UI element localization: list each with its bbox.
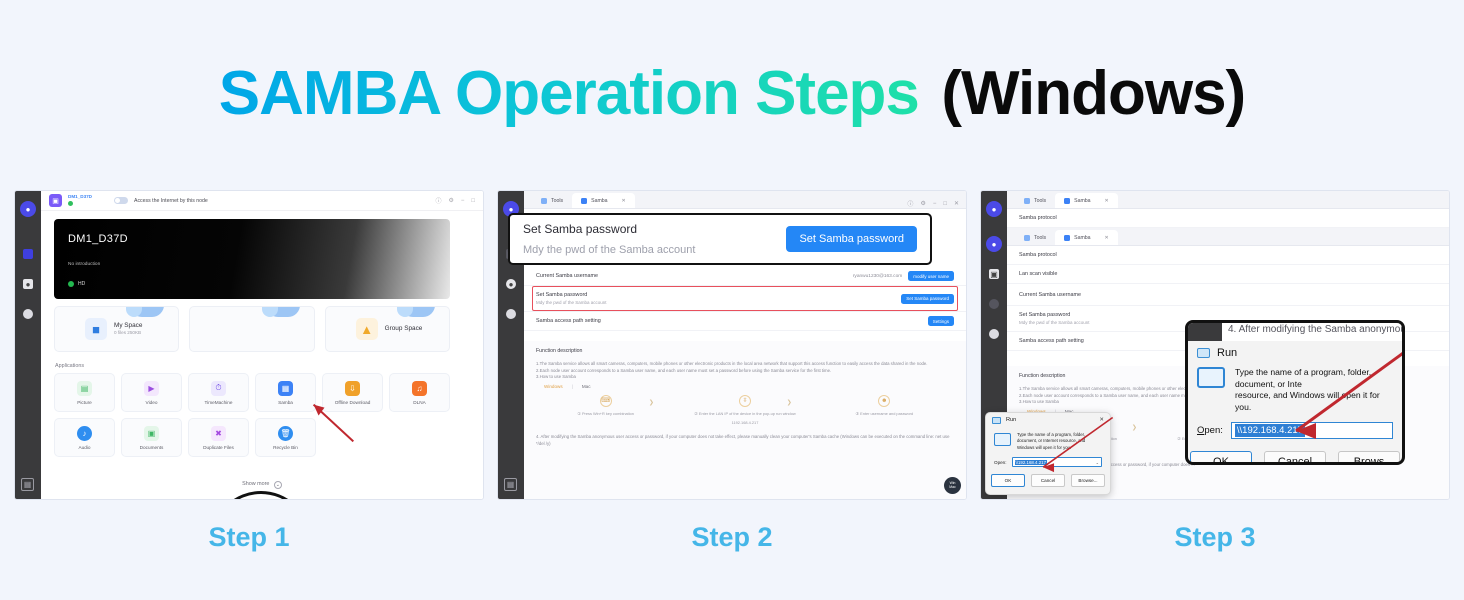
callout-subtitle: Mdy the pwd of the Samba account bbox=[523, 244, 695, 256]
chat-icon[interactable]: ● bbox=[23, 279, 33, 289]
download-icon: ⇩ bbox=[345, 381, 360, 396]
row-value: ryanwu1230@163.com bbox=[853, 274, 902, 279]
row-title: Current Samba username bbox=[1019, 292, 1081, 298]
space-meta: 0 files 250KB bbox=[114, 330, 142, 336]
usage-step-text: ③ Enter username and password bbox=[856, 411, 914, 416]
avatar[interactable]: ● bbox=[986, 201, 1002, 217]
trash-icon: 🗑 bbox=[278, 426, 293, 441]
applications-label: Applications bbox=[55, 363, 84, 369]
step2-screenshot-panel: ● ▣ ● ▦ Tools Samba ✕ ⓘ ⚙ − bbox=[497, 190, 967, 500]
chat-icon[interactable] bbox=[989, 299, 999, 309]
run-window-icon bbox=[1197, 348, 1210, 358]
tab-tools[interactable]: Tools bbox=[1015, 230, 1055, 245]
run-open-input[interactable]: \\192.168.4.217 ⌄ bbox=[1012, 457, 1102, 467]
app-label: Video bbox=[146, 400, 158, 405]
step-3-label: Step 3 bbox=[980, 522, 1450, 553]
badge-mac-label: Mac bbox=[949, 486, 955, 490]
window-controls: ⓘ ⚙ − □ bbox=[435, 196, 475, 205]
tab-samba[interactable]: Samba ✕ bbox=[1055, 193, 1118, 208]
run-description-line1: Type the name of a program, folder, docu… bbox=[1235, 367, 1393, 390]
function-description-section: Function description 1.The Samba service… bbox=[524, 341, 966, 499]
usage-step-2: ⇳ ② Enter the LAN IP of the device in th… bbox=[675, 395, 814, 426]
maximize-icon[interactable]: □ bbox=[471, 198, 475, 204]
step-2-label: Step 2 bbox=[497, 522, 967, 553]
tab-samba[interactable]: Samba ✕ bbox=[1055, 230, 1118, 245]
folder-cloud-icon bbox=[401, 306, 435, 317]
help-icon[interactable]: ⓘ bbox=[435, 196, 441, 205]
dlna-icon: ♫ bbox=[412, 381, 427, 396]
cloud-icon[interactable] bbox=[506, 309, 516, 319]
app-label: Picture bbox=[77, 400, 92, 405]
usage-step-text: ② Enter the LAN IP of the device in the … bbox=[694, 411, 795, 416]
device-banner: DM1_D37D No introduction HD bbox=[54, 219, 450, 299]
samba-icon: ▦ bbox=[278, 381, 293, 396]
chat-icon[interactable]: ● bbox=[506, 279, 516, 289]
space-card-group-space[interactable]: ▲ Group Space bbox=[325, 306, 450, 352]
modify-user-name-button[interactable]: modify user name bbox=[908, 271, 954, 281]
maximize-icon[interactable]: □ bbox=[943, 201, 947, 207]
step-1-label: Step 1 bbox=[14, 522, 484, 553]
usage-step-ip: 1192.168.4.217 bbox=[732, 420, 759, 425]
files-icon[interactable]: ▣ bbox=[989, 269, 999, 279]
run-open-label: Open: bbox=[1197, 425, 1223, 436]
app-tile-picture[interactable]: ▤ Picture bbox=[54, 373, 115, 412]
run-dialog-buttons: OK Cancel Brows bbox=[1188, 439, 1402, 465]
close-icon[interactable]: ✕ bbox=[1105, 198, 1109, 204]
row-title: Samba access path setting bbox=[536, 318, 601, 324]
samba-tab-icon bbox=[1064, 198, 1070, 204]
music-icon: ♪ bbox=[77, 426, 92, 441]
app-label: Duplicate Files bbox=[203, 445, 234, 450]
space-cards: ■ My Space 0 files 250KB ▲ Group Space bbox=[54, 306, 450, 352]
row-title: Samba protocol bbox=[1019, 252, 1057, 258]
row-title: Samba protocol bbox=[1019, 215, 1057, 221]
tab-tools[interactable]: Tools bbox=[532, 193, 572, 208]
triangle-icon: ▲ bbox=[356, 318, 378, 340]
function-description-item: 3.How to use Samba bbox=[536, 374, 954, 381]
browse-button[interactable]: Brows bbox=[1338, 451, 1400, 465]
minimize-icon[interactable]: − bbox=[461, 198, 465, 204]
close-icon[interactable]: ✕ bbox=[1105, 235, 1109, 241]
space-card-middle[interactable] bbox=[189, 306, 314, 352]
chevron-right-icon: ❯ bbox=[649, 399, 654, 406]
usage-steps: ❯ ❯ ⌨ ① Press Win+R key combination ⇳ ② … bbox=[536, 395, 954, 426]
close-icon[interactable]: ✕ bbox=[1099, 417, 1104, 423]
function-description-note: 4. After modifying the Samba anonymous u… bbox=[536, 434, 954, 447]
function-description-item: 2.Each node user account corresponds to … bbox=[536, 368, 954, 375]
internet-node-toggle[interactable] bbox=[114, 197, 128, 204]
run-dialog-small: Run ✕ Type the name of a program, folder… bbox=[985, 412, 1111, 495]
run-program-icon bbox=[1197, 367, 1225, 388]
row-samba-protocol: Samba protocol bbox=[1007, 246, 1449, 265]
app-sidebar-rail: ● ● ▦ bbox=[15, 191, 41, 499]
keyboard-icon: ⌨ bbox=[600, 395, 612, 407]
ghost-note-text: 4. After modifying the Samba anonymous bbox=[1228, 324, 1405, 335]
run-open-field-row: Open: \\192.168.4.217 ⌄ bbox=[986, 451, 1110, 467]
chevron-right-icon: ❯ bbox=[1132, 424, 1137, 431]
row-title: Set Samba password bbox=[536, 292, 607, 298]
set-samba-password-callout: Set Samba password Mdy the pwd of the Sa… bbox=[508, 213, 932, 265]
step1-screenshot-panel: ● ● ▦ ▣ DM1_D37D Access the Internet by … bbox=[14, 190, 484, 500]
cloud-icon[interactable] bbox=[989, 329, 999, 339]
browser-tabbar-upper: Tools Samba ✕ bbox=[1007, 191, 1449, 209]
settings-rows: Current Samba username ryanwu1230@163.co… bbox=[524, 267, 966, 331]
row-title: Set Samba password bbox=[1019, 312, 1090, 318]
tab-label: Tools bbox=[1034, 235, 1046, 241]
app-tile-audio[interactable]: ♪ Audio bbox=[54, 418, 115, 457]
title-platform-text: (Windows) bbox=[941, 59, 1245, 128]
poster-root: SAMBA Operation Steps (Windows) ● ● ▦ ▣ … bbox=[0, 0, 1464, 600]
tab-label: Samba bbox=[1074, 235, 1090, 241]
row-title: Current Samba username bbox=[536, 273, 598, 279]
app-tile-video[interactable]: ▶ Video bbox=[121, 373, 182, 412]
set-samba-password-button[interactable]: Set Samba password bbox=[901, 294, 954, 304]
run-dialog-titlebar: Run ✕ bbox=[986, 413, 1110, 428]
step1-topbar: ▣ DM1_D37D Access the Internet by this n… bbox=[41, 191, 483, 211]
run-dialog-body: Type the name of a program, folder, docu… bbox=[1188, 361, 1402, 413]
row-samba-access-path: Samba access path setting Settings bbox=[524, 312, 966, 331]
run-open-input[interactable]: \\192.168.4.217 bbox=[1231, 422, 1393, 439]
browse-button[interactable]: Browse... bbox=[1071, 474, 1105, 487]
run-program-icon bbox=[994, 433, 1011, 446]
chevron-down-icon: ⌄ bbox=[274, 481, 282, 489]
row-current-samba-username: Current Samba username bbox=[1007, 284, 1449, 306]
browser-tabbar-lower: Tools Samba ✕ bbox=[1007, 228, 1449, 246]
usage-step-text: ① Press Win+R key combination bbox=[577, 411, 634, 416]
run-dialog-titlebar: Run bbox=[1188, 341, 1402, 361]
row-subtitle: Mdy the pwd of the Samba account bbox=[1019, 320, 1090, 325]
banner-device-name: DM1_D37D bbox=[68, 233, 450, 245]
run-window-icon bbox=[992, 417, 1001, 424]
row-title: Lan scan visible bbox=[1019, 271, 1057, 277]
copy-icon: ✖ bbox=[211, 426, 226, 441]
step1-content: ▣ DM1_D37D Access the Internet by this n… bbox=[41, 191, 483, 499]
row-subtitle: Mdy the pwd of the Samba account bbox=[536, 300, 607, 305]
run-dialog-buttons: OK Cancel Browse... bbox=[986, 467, 1110, 494]
picture-icon: ▤ bbox=[77, 381, 92, 396]
clock-icon: ⏱ bbox=[211, 381, 226, 396]
space-name: My Space bbox=[114, 322, 142, 331]
app-tile-samba[interactable]: ▦ Samba bbox=[255, 373, 316, 412]
settings-button[interactable]: Settings bbox=[928, 316, 954, 326]
device-logo-icon: ▣ bbox=[49, 194, 62, 207]
app-tile-offline-download[interactable]: ⇩ Offline Download bbox=[322, 373, 383, 412]
files-icon[interactable] bbox=[23, 249, 33, 259]
video-icon: ▶ bbox=[144, 381, 159, 396]
help-icon[interactable]: ⓘ bbox=[907, 199, 913, 208]
tab-label: Samba bbox=[591, 198, 607, 204]
app-label: Audio bbox=[79, 445, 91, 450]
chevron-down-icon[interactable]: ⌄ bbox=[1096, 460, 1099, 465]
tab-label: Samba bbox=[1074, 198, 1090, 204]
page-title: SAMBA Operation Steps (Windows) bbox=[0, 58, 1464, 129]
document-icon: ▣ bbox=[144, 426, 159, 441]
app-label: Offline Download bbox=[335, 400, 371, 405]
user-icon: ☻ bbox=[878, 395, 890, 407]
row-samba-protocol-upper: Samba protocol bbox=[1007, 209, 1449, 228]
run-open-value: \\192.168.4.217 bbox=[1235, 424, 1305, 437]
callout-title: Set Samba password bbox=[523, 222, 695, 236]
hd-status-icon bbox=[68, 281, 74, 287]
show-more-button[interactable]: Show more ⌄ bbox=[41, 481, 483, 489]
cancel-button[interactable]: Cancel bbox=[1031, 474, 1065, 487]
run-icon: ⇳ bbox=[739, 395, 751, 407]
tools-tab-icon bbox=[1024, 198, 1030, 204]
device-chip[interactable]: DM1_D37D bbox=[68, 195, 92, 206]
os-tab-windows[interactable]: Windows bbox=[544, 384, 563, 389]
folder-cloud-icon bbox=[130, 306, 164, 317]
title-main-text: SAMBA Operation Steps bbox=[219, 59, 919, 128]
app-label: Samba bbox=[278, 400, 293, 405]
space-name: Group Space bbox=[385, 325, 423, 334]
run-open-field-row: Open: \\192.168.4.217 bbox=[1188, 413, 1402, 439]
folder-cloud-icon bbox=[266, 306, 300, 317]
apps-grid-icon[interactable]: ▦ bbox=[21, 478, 34, 491]
ok-button[interactable]: OK bbox=[991, 474, 1025, 487]
tools-tab-icon bbox=[541, 198, 547, 204]
run-description-line2: resource, and Windows will open it for y… bbox=[1235, 390, 1393, 413]
close-icon[interactable]: ✕ bbox=[954, 200, 959, 207]
tab-samba[interactable]: Samba ✕ bbox=[572, 193, 635, 208]
row-title: Samba access path setting bbox=[1019, 338, 1084, 344]
applications-grid: ▤ Picture ▶ Video ⏱ TimeMachine ▦ Samba … bbox=[54, 373, 450, 457]
gear-icon[interactable]: ⚙ bbox=[448, 197, 453, 204]
tab-label: Tools bbox=[1034, 198, 1046, 204]
usage-step-1: ⌨ ① Press Win+R key combination bbox=[536, 395, 675, 426]
browser-tabbar: Tools Samba ✕ ⓘ ⚙ − □ ✕ bbox=[524, 191, 966, 209]
banner-status: HD bbox=[68, 281, 450, 287]
device-online-dot bbox=[68, 201, 73, 206]
run-dialog-title: Run bbox=[1006, 417, 1016, 423]
samba-tab-icon bbox=[581, 198, 587, 204]
function-description-heading: Function description bbox=[536, 348, 954, 354]
run-open-label: Open: bbox=[994, 460, 1007, 465]
row-set-samba-password: Set Samba password Mdy the pwd of the Sa… bbox=[524, 286, 966, 312]
run-dialog-title: Run bbox=[1217, 347, 1237, 359]
tab-tools[interactable]: Tools bbox=[1015, 193, 1055, 208]
gear-icon[interactable]: ⚙ bbox=[920, 200, 925, 207]
os-tabs: Windows | Mac bbox=[536, 384, 954, 389]
app-label: DLNA bbox=[413, 400, 426, 405]
os-tab-separator: | bbox=[572, 384, 573, 389]
internet-node-label: Access the Internet by this node bbox=[134, 198, 208, 204]
app-tile-recycle-bin[interactable]: 🗑 Recycle Bin bbox=[255, 418, 316, 457]
app-tile-timemachine[interactable]: ⏱ TimeMachine bbox=[188, 373, 249, 412]
app-tile-dlna[interactable]: ♫ DLNA bbox=[389, 373, 450, 412]
usage-step-3: ☻ ③ Enter username and password bbox=[815, 395, 954, 426]
window-controls: ⓘ ⚙ − □ ✕ bbox=[907, 199, 966, 208]
close-icon[interactable]: ✕ bbox=[622, 198, 626, 204]
callout-set-samba-password-button[interactable]: Set Samba password bbox=[786, 226, 917, 252]
avatar-secondary[interactable]: ● bbox=[986, 236, 1002, 252]
app-tile-duplicate-files[interactable]: ✖ Duplicate Files bbox=[188, 418, 249, 457]
hd-status-label: HD bbox=[78, 281, 85, 287]
row-lan-scan-visible: Lan scan visible bbox=[1007, 265, 1449, 284]
cloud-icon[interactable] bbox=[23, 309, 33, 319]
app-tile-documents[interactable]: ▣ Documents bbox=[121, 418, 182, 457]
apps-grid-icon[interactable]: ▦ bbox=[504, 478, 517, 491]
show-more-label: Show more bbox=[242, 481, 269, 487]
os-tab-mac[interactable]: Mac bbox=[582, 384, 591, 389]
banner-subtitle: No introduction bbox=[68, 262, 450, 267]
app-label: TimeMachine bbox=[205, 400, 233, 405]
magnified-background-strip: 4. After modifying the Samba anonymous bbox=[1188, 323, 1402, 341]
function-description-item: 1.The Samba service allows all smart cam… bbox=[536, 361, 954, 368]
run-dialog-body: Type the name of a program, folder, docu… bbox=[986, 428, 1110, 451]
ok-button[interactable]: OK bbox=[1190, 451, 1252, 465]
device-chip-name: DM1_D37D bbox=[68, 195, 92, 200]
tools-tab-icon bbox=[1024, 235, 1030, 241]
app-label: Recycle Bin bbox=[273, 445, 298, 450]
os-corner-badge[interactable]: Win Mac bbox=[944, 477, 961, 494]
row-current-samba-username: Current Samba username ryanwu1230@163.co… bbox=[524, 267, 966, 286]
app-label: Documents bbox=[140, 445, 164, 450]
run-dialog-description: Type the name of a program, folder, docu… bbox=[1017, 432, 1102, 451]
space-card-my-space[interactable]: ■ My Space 0 files 250KB bbox=[54, 306, 179, 352]
run-dialog-magnified: 4. After modifying the Samba anonymous R… bbox=[1185, 320, 1405, 465]
run-open-value: \\192.168.4.217 bbox=[1015, 460, 1048, 465]
avatar[interactable]: ● bbox=[20, 201, 36, 217]
chevron-right-icon: ❯ bbox=[787, 399, 792, 406]
cube-icon: ■ bbox=[85, 318, 107, 340]
tab-label: Tools bbox=[551, 198, 563, 204]
minimize-icon[interactable]: − bbox=[933, 201, 937, 207]
cancel-button[interactable]: Cancel bbox=[1264, 451, 1326, 465]
samba-tab-icon bbox=[1064, 235, 1070, 241]
